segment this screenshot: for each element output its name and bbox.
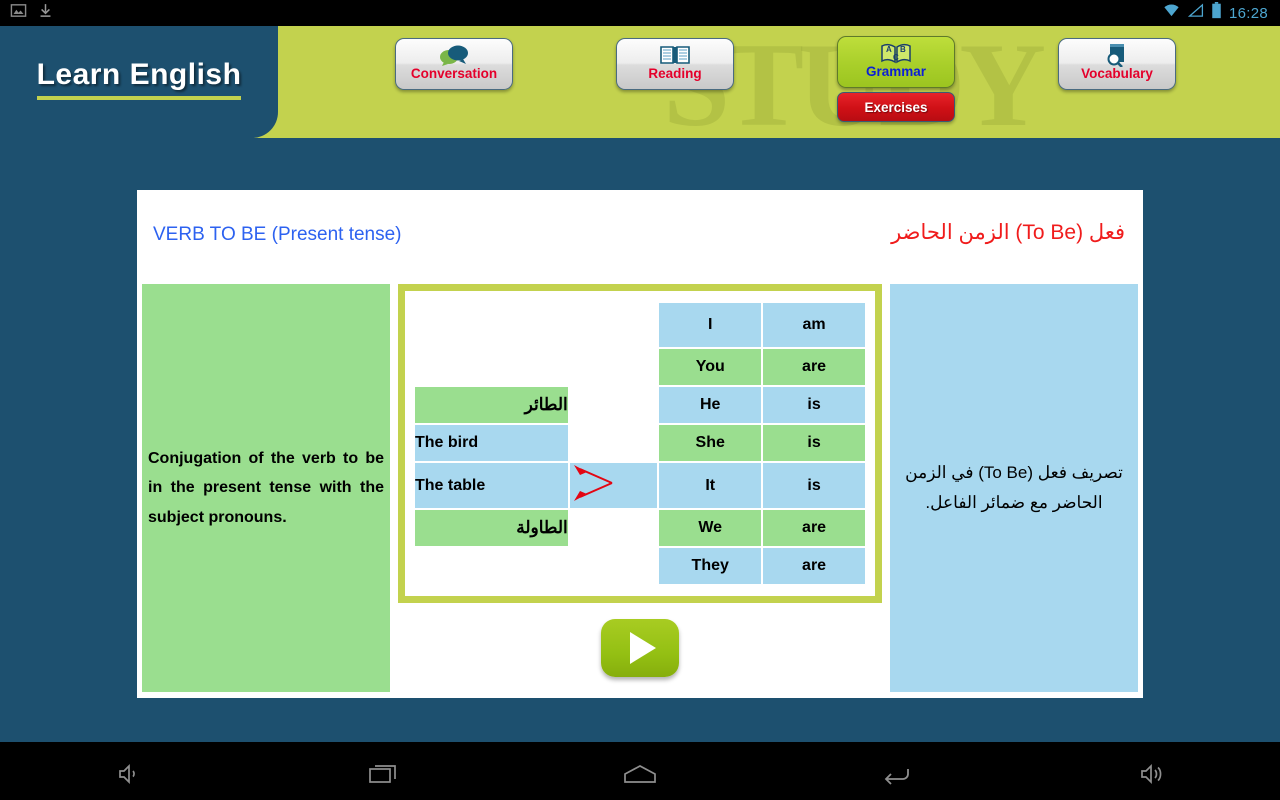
pronoun-cell[interactable]: We — [659, 510, 761, 546]
home-icon[interactable] — [580, 763, 700, 785]
pronoun-cell[interactable]: You — [659, 349, 761, 385]
spacer-cell — [570, 303, 658, 347]
abc-book-icon: A B C — [878, 41, 914, 65]
table-row: Iam — [415, 303, 865, 347]
arrow-cell — [570, 463, 658, 508]
volume-up-icon[interactable] — [1092, 763, 1212, 785]
image-icon — [10, 2, 27, 24]
table-row: Theyare — [415, 548, 865, 584]
back-icon[interactable] — [836, 763, 956, 785]
be-form-cell[interactable]: are — [763, 349, 865, 385]
conjugation-panel: IamYouareالطائرHeisThe birdSheisThe tabl… — [398, 284, 882, 692]
word-cell[interactable]: الطائر — [415, 387, 568, 423]
be-form-cell[interactable]: are — [763, 548, 865, 584]
tab-conversation[interactable]: Conversation — [395, 38, 513, 90]
tab-vocabulary-label: Vocabulary — [1081, 66, 1153, 81]
lesson-card: VERB TO BE (Present tense) فعل (To Be) ا… — [137, 190, 1143, 698]
status-bar-system: 16:28 — [1162, 2, 1280, 24]
tab-grammar[interactable]: A B C Grammar — [837, 36, 955, 88]
word-cell[interactable]: الطاولة — [415, 510, 568, 546]
tab-vocabulary[interactable]: Vocabulary — [1058, 38, 1176, 90]
conjugation-table: IamYouareالطائرHeisThe birdSheisThe tabl… — [413, 301, 867, 586]
exercises-label: Exercises — [864, 100, 927, 115]
app-root: 16:28 STUDY Learn English — [0, 0, 1280, 800]
recent-apps-icon[interactable] — [324, 763, 444, 785]
word-cell[interactable]: The table — [415, 463, 568, 508]
table-row: Youare — [415, 349, 865, 385]
svg-text:C: C — [893, 53, 899, 62]
table-row: The tableItis — [415, 463, 865, 508]
pronoun-cell[interactable]: It — [659, 463, 761, 508]
table-row: الطاولةWeare — [415, 510, 865, 546]
lesson-header: VERB TO BE (Present tense) فعل (To Be) ا… — [137, 190, 1143, 276]
spacer-cell — [570, 387, 658, 423]
header-nav: Conversation Reading — [278, 26, 1280, 138]
tab-reading[interactable]: Reading — [616, 38, 734, 90]
double-arrow-icon — [570, 463, 650, 503]
lesson-title-en: VERB TO BE (Present tense) — [153, 224, 402, 246]
lesson-title-ar: فعل (To Be) الزمن الحاضر — [891, 220, 1125, 245]
tab-grammar-label: Grammar — [866, 64, 926, 79]
tab-conversation-label: Conversation — [411, 66, 497, 81]
word-cell[interactable]: The bird — [415, 425, 568, 461]
app-logo-underline — [37, 96, 242, 100]
wifi-icon — [1162, 3, 1181, 23]
empty-cell — [415, 303, 568, 347]
app-header: STUDY Learn English Conversation — [0, 26, 1280, 138]
tab-reading-label: Reading — [648, 66, 701, 81]
table-row: الطائرHeis — [415, 387, 865, 423]
spacer-cell — [570, 425, 658, 461]
conjugation-table-wrap: IamYouareالطائرHeisThe birdSheisThe tabl… — [405, 291, 875, 596]
svg-text:B: B — [900, 45, 906, 54]
pronoun-cell[interactable]: I — [659, 303, 761, 347]
pronoun-cell[interactable]: He — [659, 387, 761, 423]
book-magnifier-icon — [1103, 43, 1131, 67]
conjugation-frame: IamYouareالطائرHeisThe birdSheisThe tabl… — [398, 284, 882, 603]
play-audio-wrap — [601, 619, 679, 677]
android-status-bar: 16:28 — [0, 0, 1280, 26]
speech-bubbles-icon — [437, 43, 471, 67]
lesson-body: Conjugation of the verb to be in the pre… — [142, 284, 1138, 692]
be-form-cell[interactable]: is — [763, 387, 865, 423]
android-nav-bar — [0, 748, 1280, 800]
pronoun-cell[interactable]: They — [659, 548, 761, 584]
note-panel-english: Conjugation of the verb to be in the pre… — [142, 284, 390, 692]
be-form-cell[interactable]: is — [763, 463, 865, 508]
spacer-cell — [570, 349, 658, 385]
table-row: The birdSheis — [415, 425, 865, 461]
status-bar-notifications — [0, 2, 54, 24]
note-panel-arabic: تصريف فعل (To Be) في الزمن الحاضر مع ضما… — [890, 284, 1138, 692]
note-arabic-text: تصريف فعل (To Be) في الزمن الحاضر مع ضما… — [900, 458, 1128, 518]
be-form-cell[interactable]: are — [763, 510, 865, 546]
spacer-cell — [570, 548, 658, 584]
signal-icon — [1188, 3, 1204, 23]
pronoun-cell[interactable]: She — [659, 425, 761, 461]
exercises-button[interactable]: Exercises — [837, 92, 955, 122]
empty-cell — [415, 548, 568, 584]
download-icon — [37, 2, 54, 24]
svg-text:A: A — [886, 45, 892, 54]
volume-down-icon[interactable] — [68, 763, 188, 785]
play-audio-button[interactable] — [601, 619, 679, 677]
empty-cell — [415, 349, 568, 385]
play-icon — [630, 632, 656, 664]
app-logo: Learn English — [0, 26, 278, 138]
status-bar-clock: 16:28 — [1229, 5, 1268, 22]
be-form-cell[interactable]: is — [763, 425, 865, 461]
app-logo-text: Learn English — [37, 58, 242, 92]
battery-icon — [1211, 2, 1222, 24]
note-english-text: Conjugation of the verb to be in the pre… — [148, 444, 384, 533]
open-book-icon — [659, 43, 691, 67]
be-form-cell[interactable]: am — [763, 303, 865, 347]
spacer-cell — [570, 510, 658, 546]
